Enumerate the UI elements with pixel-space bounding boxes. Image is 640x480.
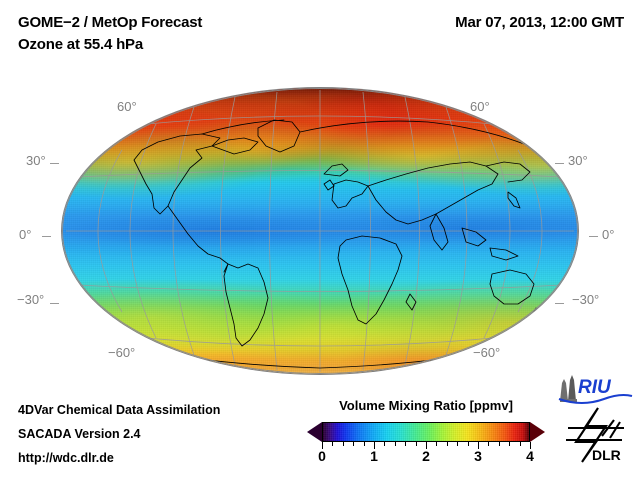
riu-wordmark: RIU	[578, 377, 612, 398]
colorbar-minor-tick	[343, 442, 344, 446]
colorbar-dither-texture	[323, 423, 529, 441]
colorbar-tick-label: 4	[526, 448, 534, 464]
riu-logo: RIU	[556, 371, 634, 405]
lat-tick-left-m30	[50, 303, 59, 304]
colorbar-title: Volume Mixing Ratio [ppmv]	[306, 398, 546, 413]
colorbar-minor-tick	[457, 442, 458, 446]
coastlines	[62, 88, 578, 374]
colorbar-extend-low-arrow	[307, 422, 322, 442]
riu-towers-icon	[560, 375, 577, 402]
map-globe	[62, 88, 578, 374]
colorbar-minor-tick	[384, 442, 385, 446]
lat-label-right-m30: −30°	[572, 292, 599, 307]
lat-label-left-60: 60°	[117, 99, 137, 114]
dlr-wordmark: DLR	[592, 447, 621, 463]
colorbar-tick-label: 1	[370, 448, 378, 464]
lat-tick-left-30	[50, 163, 59, 164]
colorbar-minor-tick	[447, 442, 448, 446]
colorbar-tick-label: 3	[474, 448, 482, 464]
figure-canvas: GOME−2 / MetOp Forecast Ozone at 55.4 hP…	[0, 0, 640, 480]
lat-label-left-m60: −60°	[108, 345, 135, 360]
colorbar-minor-tick	[488, 442, 489, 446]
page-title: GOME−2 / MetOp Forecast	[18, 14, 202, 31]
lat-label-right-m60: −60°	[473, 345, 500, 360]
colorbar-minor-tick	[416, 442, 417, 446]
footer-line-assimilation: 4DVar Chemical Data Assimilation	[18, 403, 220, 417]
footer-line-url: http://wdc.dlr.de	[18, 451, 114, 465]
lat-tick-left-0	[42, 236, 51, 237]
colorbar-minor-tick	[436, 442, 437, 446]
colorbar-minor-tick	[405, 442, 406, 446]
colorbar-tick-label: 2	[422, 448, 430, 464]
colorbar-minor-tick	[499, 442, 500, 446]
lat-label-right-60: 60°	[470, 99, 490, 114]
colorbar: Volume Mixing Ratio [ppmv] 01234	[306, 398, 546, 468]
footer-line-version: SACADA Version 2.4	[18, 427, 141, 441]
lat-tick-right-30	[555, 163, 564, 164]
lat-tick-right-m30	[555, 303, 564, 304]
colorbar-minor-tick	[520, 442, 521, 446]
colorbar-minor-tick	[468, 442, 469, 446]
colorbar-scale	[306, 422, 546, 442]
colorbar-minor-tick	[353, 442, 354, 446]
colorbar-gradient	[322, 422, 530, 442]
lat-label-left-0: 0°	[19, 227, 31, 242]
lat-label-right-0: 0°	[602, 227, 614, 242]
colorbar-extend-high-arrow	[530, 422, 545, 442]
colorbar-minor-tick	[364, 442, 365, 446]
dlr-logo: DLR	[562, 406, 632, 464]
colorbar-minor-tick	[395, 442, 396, 446]
lat-label-left-30: 30°	[26, 153, 46, 168]
global-ozone-map	[62, 88, 578, 374]
page-subtitle: Ozone at 55.4 hPa	[18, 36, 143, 53]
colorbar-minor-tick	[332, 442, 333, 446]
colorbar-tick-labels: 01234	[306, 448, 546, 468]
lat-tick-right-0	[589, 236, 598, 237]
colorbar-tick-label: 0	[318, 448, 326, 464]
colorbar-minor-tick	[509, 442, 510, 446]
timestamp-label: Mar 07, 2013, 12:00 GMT	[455, 14, 624, 31]
lat-label-left-m30: −30°	[17, 292, 44, 307]
lat-label-right-30: 30°	[568, 153, 588, 168]
